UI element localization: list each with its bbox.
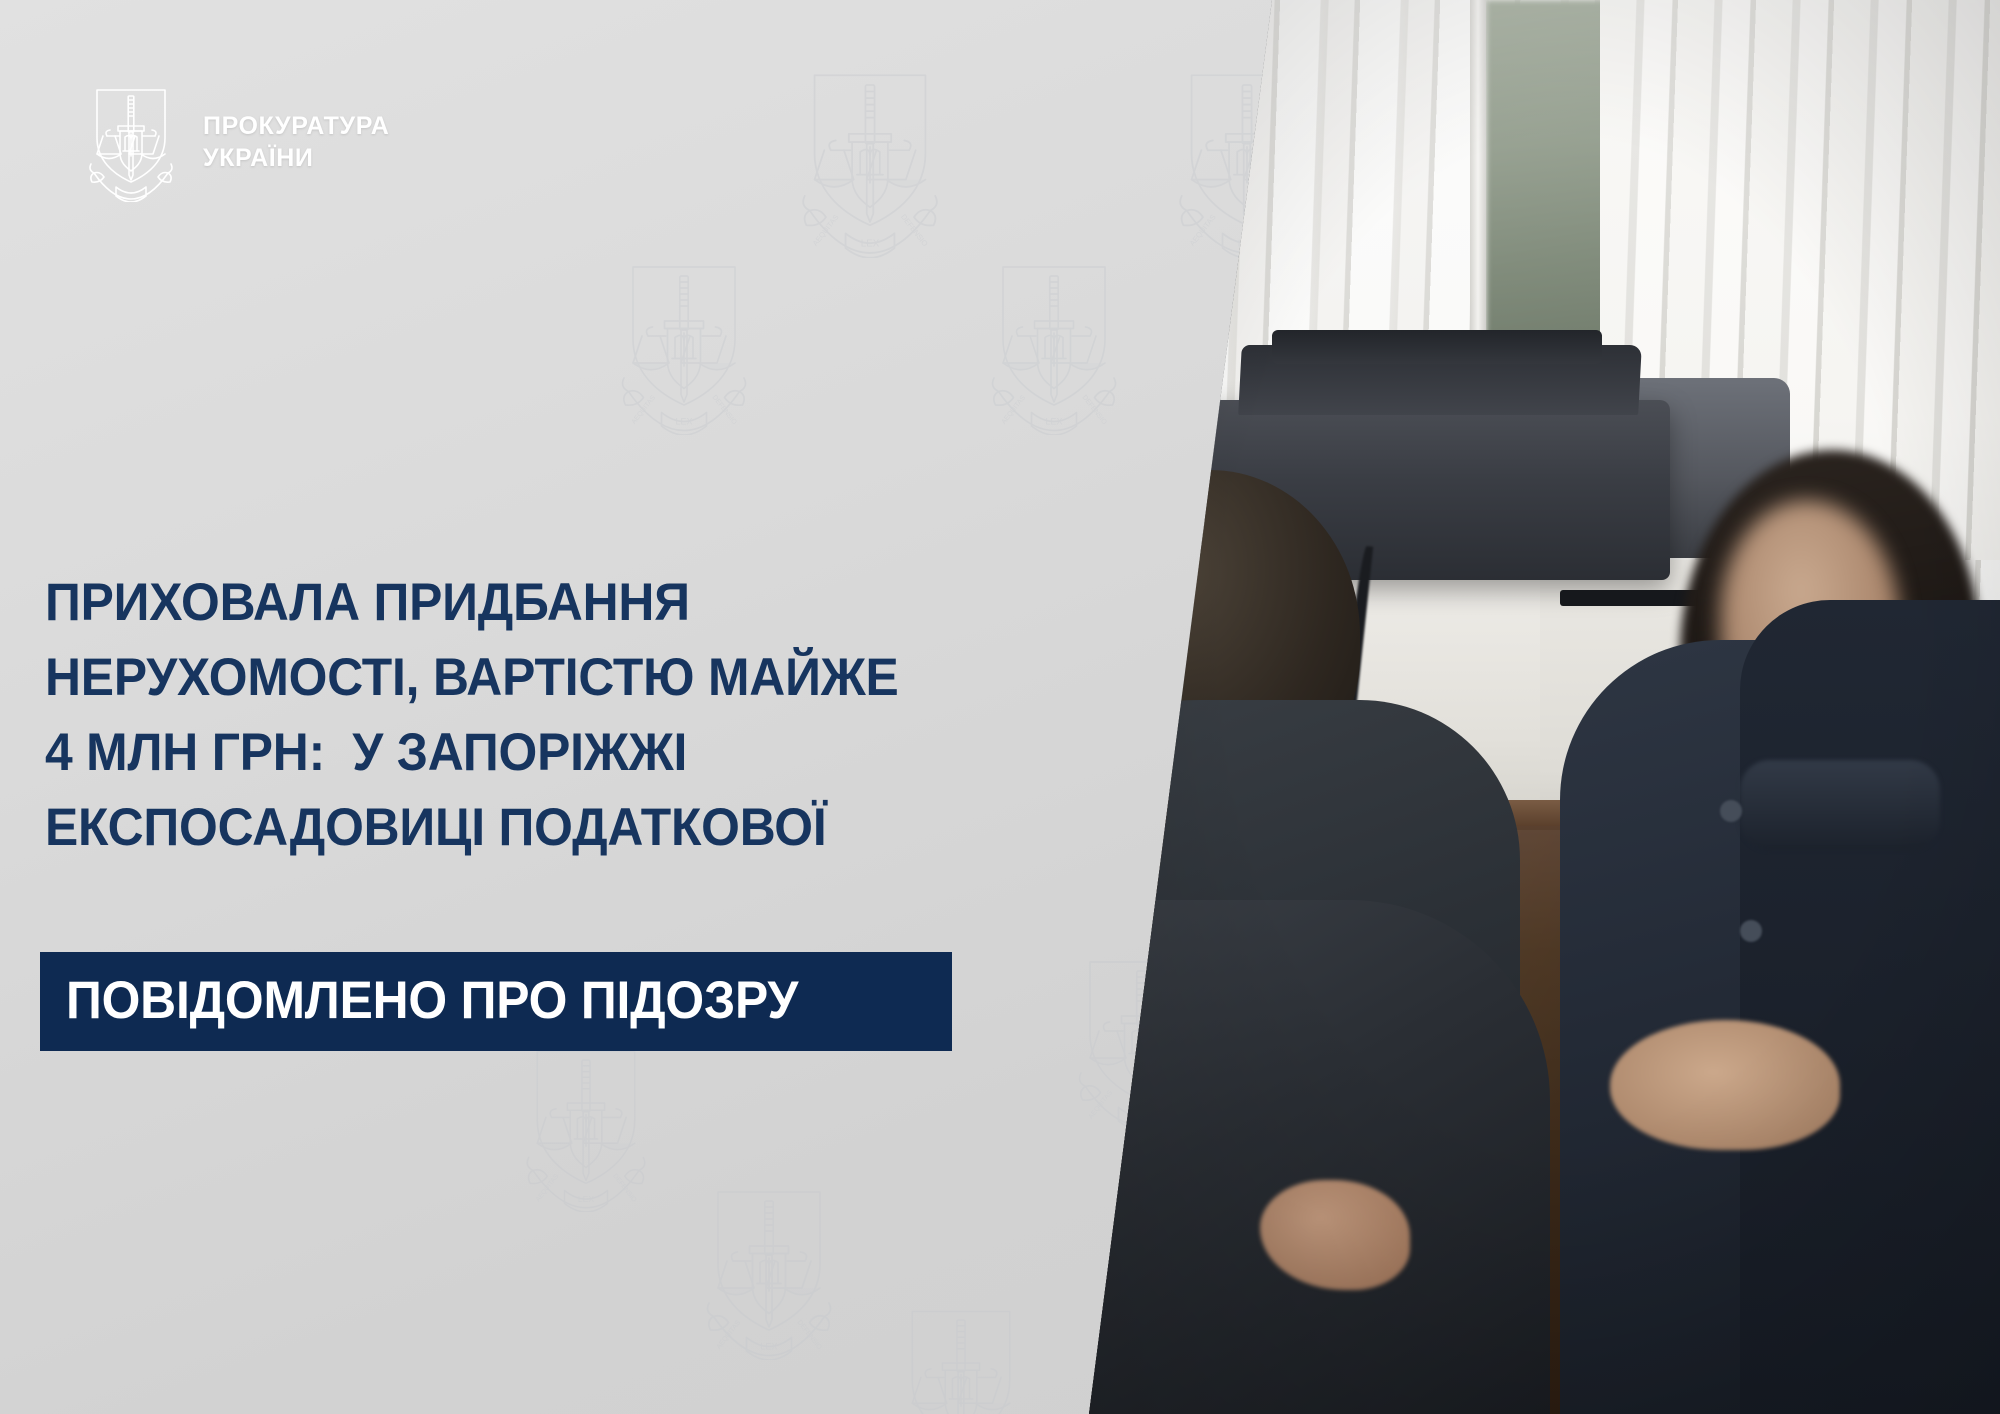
headline-line-1: ПРИХОВАЛА ПРИДБАННЯ: [45, 565, 872, 640]
status-badge: ПОВІДОМЛЕНО ПРО ПІДОЗРУ: [40, 952, 952, 1051]
svg-text:AEQUITAS: AEQUITAS: [1001, 394, 1028, 426]
page-title: ПРИХОВАЛА ПРИДБАННЯ НЕРУХОМОСТІ, ВАРТІСТ…: [45, 565, 925, 865]
svg-text:LEX: LEX: [675, 417, 692, 427]
brand-name: ПРОКУРАТУРА УКРАЇНИ: [203, 110, 389, 175]
printer-feeder-lid: [1272, 330, 1602, 364]
svg-text:DEFENSIO: DEFENSIO: [1081, 394, 1109, 427]
prosecutor-shield-emblem-icon: [85, 82, 177, 202]
woman-jacket-button-2: [1740, 920, 1762, 942]
svg-text:AEQUITAS: AEQUITAS: [535, 1173, 561, 1204]
man-shoulder: [1040, 900, 1550, 1414]
status-badge-label: ПОВІДОМЛЕНО ПРО ПІДОЗРУ: [66, 974, 798, 1027]
woman-clasped-hands: [1610, 1020, 1840, 1150]
svg-text:LEX: LEX: [861, 238, 880, 249]
svg-text:DEFENSIO: DEFENSIO: [711, 394, 739, 427]
watermark-emblem-icon: LEX AEQUITAS DEFENSIO: [700, 1180, 838, 1360]
woman-jacket-button: [1720, 800, 1742, 822]
svg-text:LEX: LEX: [1045, 417, 1062, 427]
svg-text:DEFENSIO: DEFENSIO: [796, 1319, 824, 1352]
svg-text:AEQUITAS: AEQUITAS: [631, 394, 658, 426]
watermark-emblem-icon: LEX AEQUITAS DEFENSIO: [985, 255, 1123, 435]
watermark-emblem-icon: LEX AEQUITAS DEFENSIO: [520, 1040, 652, 1212]
svg-text:AEQUITAS: AEQUITAS: [1088, 1089, 1115, 1121]
news-photo: [1040, 0, 2000, 1414]
svg-text:AEQUITAS: AEQUITAS: [811, 213, 841, 248]
woman-collar: [1740, 760, 1940, 850]
watermark-emblem-icon: LEX AEQUITAS DEFENSIO: [795, 62, 945, 258]
watermark-emblem-icon: LEX AEQUITAS DEFENSIO: [615, 255, 753, 435]
promo-banner: LEX AEQUITAS DEFENSIO LEX AEQUITAS DEFEN…: [0, 0, 2000, 1414]
brand-logo: ПРОКУРАТУРА УКРАЇНИ: [85, 82, 389, 202]
svg-text:AEQUITAS: AEQUITAS: [1188, 213, 1218, 248]
headline-line-3: 4 МЛН ГРН: У ЗАПОРІЖЖІ: [45, 715, 872, 790]
svg-text:LEX: LEX: [578, 1194, 594, 1204]
svg-text:DEFENSIO: DEFENSIO: [611, 1173, 637, 1204]
watermark-emblem-icon: LEX AEQUITAS DEFENSIO: [895, 1300, 1027, 1414]
woman-jacket-right: [1740, 600, 2000, 1414]
svg-text:LEX: LEX: [760, 1342, 777, 1352]
headline-line-2: НЕРУХОМОСТІ, ВАРТІСТЮ МАЙЖЕ: [45, 640, 872, 715]
svg-text:AEQUITAS: AEQUITAS: [716, 1319, 743, 1351]
svg-text:DEFENSIO: DEFENSIO: [899, 212, 930, 248]
headline-line-4: ЕКСПОСАДОВИЦІ ПОДАТКОВОЇ: [45, 790, 872, 865]
